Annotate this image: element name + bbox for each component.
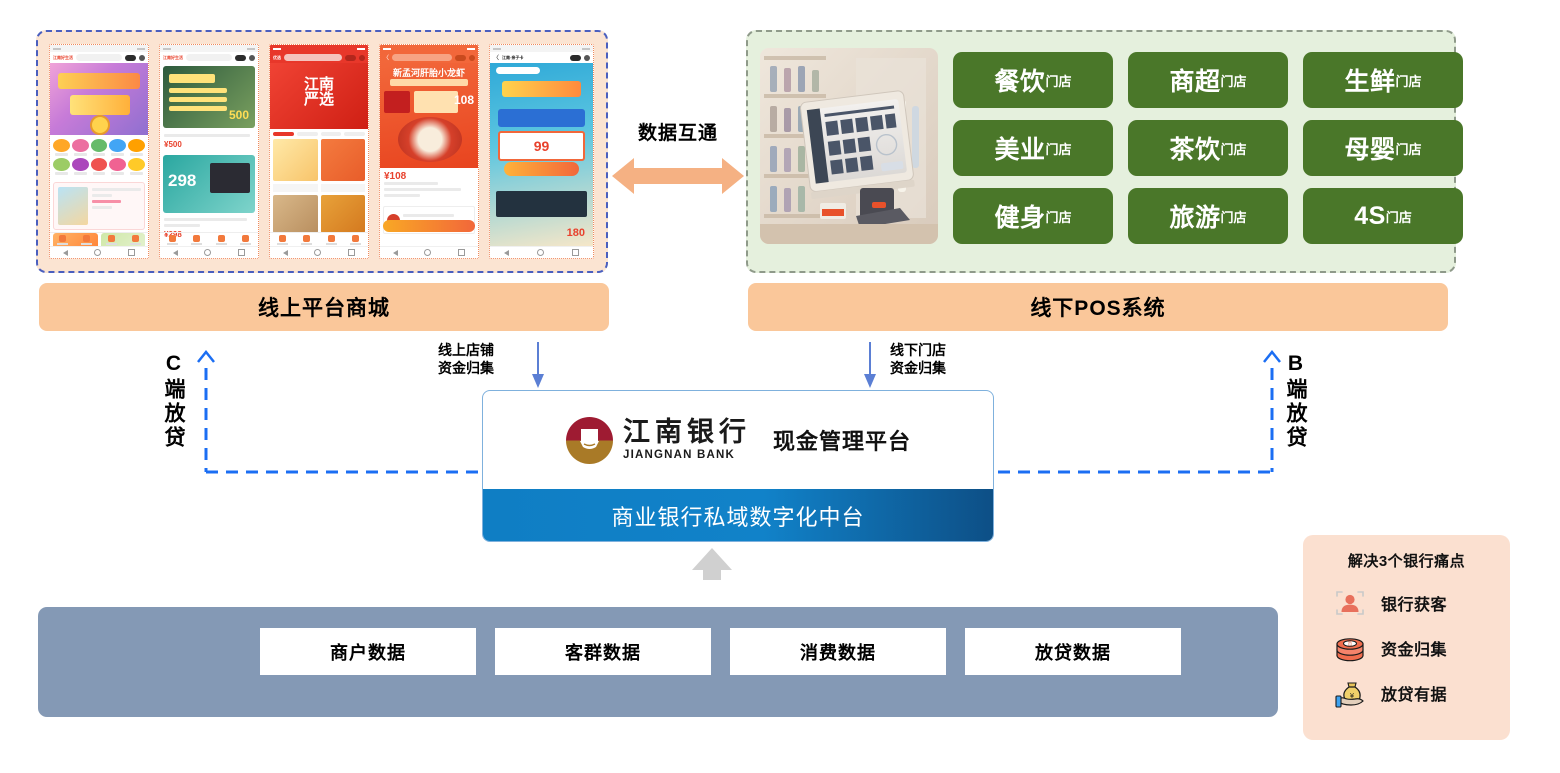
phone-hero-banner: 江南严选 [270,63,368,129]
phone-status-bar [270,45,368,52]
phone-hero-banner: 新孟河肝胎小龙虾 108 [380,63,478,168]
jiangnan-bank-logo: 江南银行 JIANGNAN BANK [565,416,751,465]
diagram-canvas: 江南好生活 [0,0,1560,773]
data-card-list: 商户数据 客群数据 消费数据 放贷数据 [260,628,1181,675]
phone-status-bar [160,45,258,52]
pain-point-label: 放贷有据 [1381,681,1447,705]
pain-points-title: 解决3个银行痛点 [1303,535,1510,571]
store-chip-2[interactable]: 生鲜门店 [1303,52,1463,108]
offline-pos-banner: 线下POS系统 [748,283,1448,331]
customer-scan-icon [1333,587,1367,619]
bank-logo-text: 江南银行 JIANGNAN BANK [623,419,751,461]
phone-mall-home: 江南好生活 [49,44,149,259]
phone-buy-button[interactable] [383,220,475,232]
online-platform-banner: 线上平台商城 [39,283,609,331]
pos-terminal-illustration [760,48,938,244]
cash-management-platform-title: 现金管理平台 [773,424,911,456]
store-chip-4[interactable]: 茶饮门店 [1128,120,1288,176]
phone-system-nav [160,246,258,258]
store-chip-1[interactable]: 商超门店 [1128,52,1288,108]
data-card-merchant[interactable]: 商户数据 [260,628,476,675]
bank-name-en: JIANGNAN BANK [623,449,751,461]
phone-crayfish-detail: 〈 新孟河肝胎小龙虾 108 ¥108 [379,44,479,259]
b-side-lending-path [998,352,1280,472]
data-card-lending[interactable]: 放贷数据 [965,628,1181,675]
bank-platform-box: 江南银行 JIANGNAN BANK 现金管理平台 商业银行私域数字化中台 [482,390,994,542]
svg-text:币: 币 [1347,640,1352,647]
phone-hero-banner [50,63,148,135]
money-bag-hand-icon: ¥ [1333,677,1367,709]
phone-tab-bar [160,232,258,247]
store-chip-0[interactable]: 餐饮门店 [953,52,1113,108]
online-platform-panel: 江南好生活 [36,30,608,273]
data-interop-connector: 数据互通 [612,118,744,198]
phone-yanxuan: 优选 江南严选 [269,44,369,259]
phone-price-block: ¥108 [380,168,478,203]
platform-data-double-arrow [692,548,732,580]
phone-app-bar: 〈 [380,52,478,63]
phone-tab-bar [270,232,368,247]
offline-funds-arrow [864,342,876,388]
store-chip-7[interactable]: 旅游门店 [1128,188,1288,244]
online-funds-label: 线上店铺 资金归集 [438,341,494,378]
pain-points-list: 银行获客 币 资金归集 [1303,580,1510,715]
phone-system-nav [270,246,368,258]
online-funds-arrow [532,342,544,388]
phone-hero-banner-2: 298 [163,155,255,213]
bank-pain-points-panel: 解决3个银行痛点 银行获客 [1303,535,1510,740]
pain-point-acquisition: 银行获客 [1303,580,1510,625]
phone-card-promo: 99 180 [490,63,593,247]
phone-tab-bar [50,232,148,247]
phone-system-nav [380,246,478,258]
bank-logo-mark-icon [565,416,614,465]
data-assets-bar: 商户数据 客群数据 消费数据 放贷数据 [38,607,1278,717]
c-side-lending-path [198,352,478,472]
pain-point-label: 银行获客 [1381,591,1447,615]
phone-app-bar: 江南好生活 [160,52,258,63]
store-chip-3[interactable]: 美业门店 [953,120,1113,176]
phone-hero-banner: 500 [163,66,255,128]
pos-terminal-photo [760,48,938,244]
offline-pos-panel: 餐饮门店 商超门店 生鲜门店 美业门店 茶饮门店 母婴门店 健身门店 旅游门店 … [746,30,1456,273]
phone-status-bar [490,45,593,52]
bank-platform-header: 江南银行 JIANGNAN BANK 现金管理平台 [483,391,993,489]
phone-app-bar: 江南好生活 [50,52,148,63]
store-chip-8[interactable]: 4S门店 [1303,188,1463,244]
data-interop-label: 数据互通 [612,118,744,145]
store-type-grid: 餐饮门店 商超门店 生鲜门店 美业门店 茶饮门店 母婴门店 健身门店 旅游门店 … [953,52,1463,244]
data-card-customer[interactable]: 客群数据 [495,628,711,675]
phone-product-grid [270,139,368,233]
offline-funds-label: 线下门店 资金归集 [890,341,946,378]
b-side-lending-label: B端放贷 [1285,352,1306,450]
phone-parent-child-card: 〈江南·亲子卡 99 180 [489,44,594,259]
pain-point-lending: ¥ 放贷有据 [1303,670,1510,715]
coin-stack-icon: 币 [1333,632,1367,664]
pain-point-funds: 币 资金归集 [1303,625,1510,670]
phone-app-bar: 优选 [270,52,368,63]
phone-filter-tabs[interactable] [270,129,368,139]
double-arrow-icon [612,151,744,201]
c-side-lending-label: C端放贷 [163,352,184,450]
phone-system-nav [50,246,148,258]
phone-mall-list: 江南好生活 500 ¥500 298 [159,44,259,259]
phone-product-card [53,182,145,230]
pain-point-label: 资金归集 [1381,636,1447,660]
phone-status-bar [380,45,478,52]
bank-name-cn: 江南银行 [623,419,751,446]
phone-app-bar: 〈江南·亲子卡 [490,52,593,63]
phone-mockup-row: 江南好生活 [49,44,594,259]
phone-status-bar [50,45,148,52]
phone-category-grid [50,135,148,179]
data-card-consumption[interactable]: 消费数据 [730,628,946,675]
store-chip-5[interactable]: 母婴门店 [1303,120,1463,176]
phone-system-nav [490,246,593,258]
digital-middle-platform-bar: 商业银行私域数字化中台 [483,489,993,542]
phone-item-text: ¥500 [160,131,258,152]
store-chip-6[interactable]: 健身门店 [953,188,1113,244]
